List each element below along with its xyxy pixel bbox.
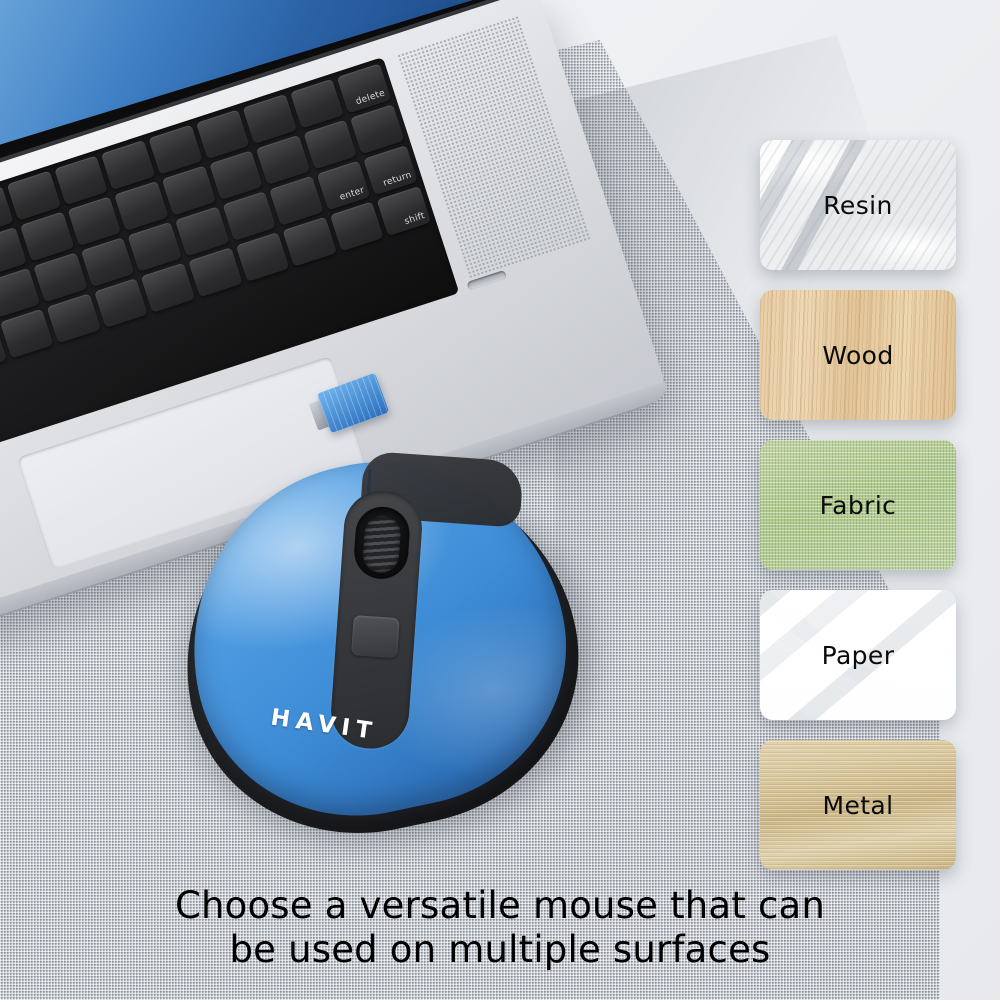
key[interactable] — [34, 252, 88, 302]
swatch-wood[interactable]: Wood — [760, 290, 956, 420]
key[interactable] — [188, 247, 242, 297]
product-marketing-image: delete — [0, 0, 1000, 1000]
key[interactable] — [283, 217, 337, 267]
caption-line-1: Choose a versatile mouse that can — [175, 884, 825, 927]
key[interactable] — [303, 120, 357, 170]
key[interactable] — [243, 94, 297, 144]
key[interactable] — [209, 150, 263, 200]
key[interactable] — [330, 201, 384, 251]
key[interactable] — [269, 176, 323, 226]
key-delete[interactable]: delete — [337, 63, 391, 113]
key[interactable] — [350, 104, 404, 154]
key[interactable] — [162, 166, 216, 216]
key[interactable] — [235, 232, 289, 282]
swatch-label: Paper — [822, 641, 895, 670]
key[interactable] — [148, 125, 202, 175]
key[interactable] — [54, 155, 108, 205]
key[interactable] — [20, 212, 74, 262]
mouse-center-strip — [329, 488, 425, 751]
swatch-paper[interactable]: Paper — [760, 590, 956, 720]
key[interactable] — [175, 206, 229, 256]
swatch-label: Wood — [822, 341, 893, 370]
swatch-resin[interactable]: Resin — [760, 140, 956, 270]
key[interactable] — [81, 237, 135, 287]
dpi-button[interactable] — [351, 615, 400, 658]
key[interactable] — [94, 278, 148, 328]
key[interactable] — [141, 263, 195, 313]
scroll-wheel[interactable] — [362, 515, 402, 573]
material-swatch-list: Resin Wood Fabric Paper Metal — [760, 140, 960, 890]
key[interactable] — [67, 196, 121, 246]
key-return[interactable]: return — [364, 145, 418, 195]
swatch-metal[interactable]: Metal — [760, 740, 956, 870]
swatch-label: Metal — [822, 791, 893, 820]
key-enter[interactable]: enter — [317, 160, 371, 210]
caption-line-2: be used on multiple surfaces — [0, 928, 1000, 972]
caption: Choose a versatile mouse that can be use… — [0, 884, 1000, 971]
key[interactable] — [47, 293, 101, 343]
key[interactable] — [290, 79, 344, 129]
swatch-label: Fabric — [820, 491, 897, 520]
key[interactable] — [196, 109, 250, 159]
key[interactable] — [7, 171, 61, 221]
swatch-fabric[interactable]: Fabric — [760, 440, 956, 570]
key[interactable] — [128, 222, 182, 272]
key[interactable] — [222, 191, 276, 241]
key[interactable] — [101, 140, 155, 190]
key-shift[interactable]: shift — [377, 186, 431, 236]
key[interactable] — [256, 135, 310, 185]
key[interactable] — [0, 309, 54, 359]
scroll-wheel-well — [352, 505, 411, 581]
swatch-label: Resin — [823, 191, 892, 220]
key[interactable] — [115, 181, 169, 231]
wireless-mouse: HAVIT — [129, 400, 637, 900]
